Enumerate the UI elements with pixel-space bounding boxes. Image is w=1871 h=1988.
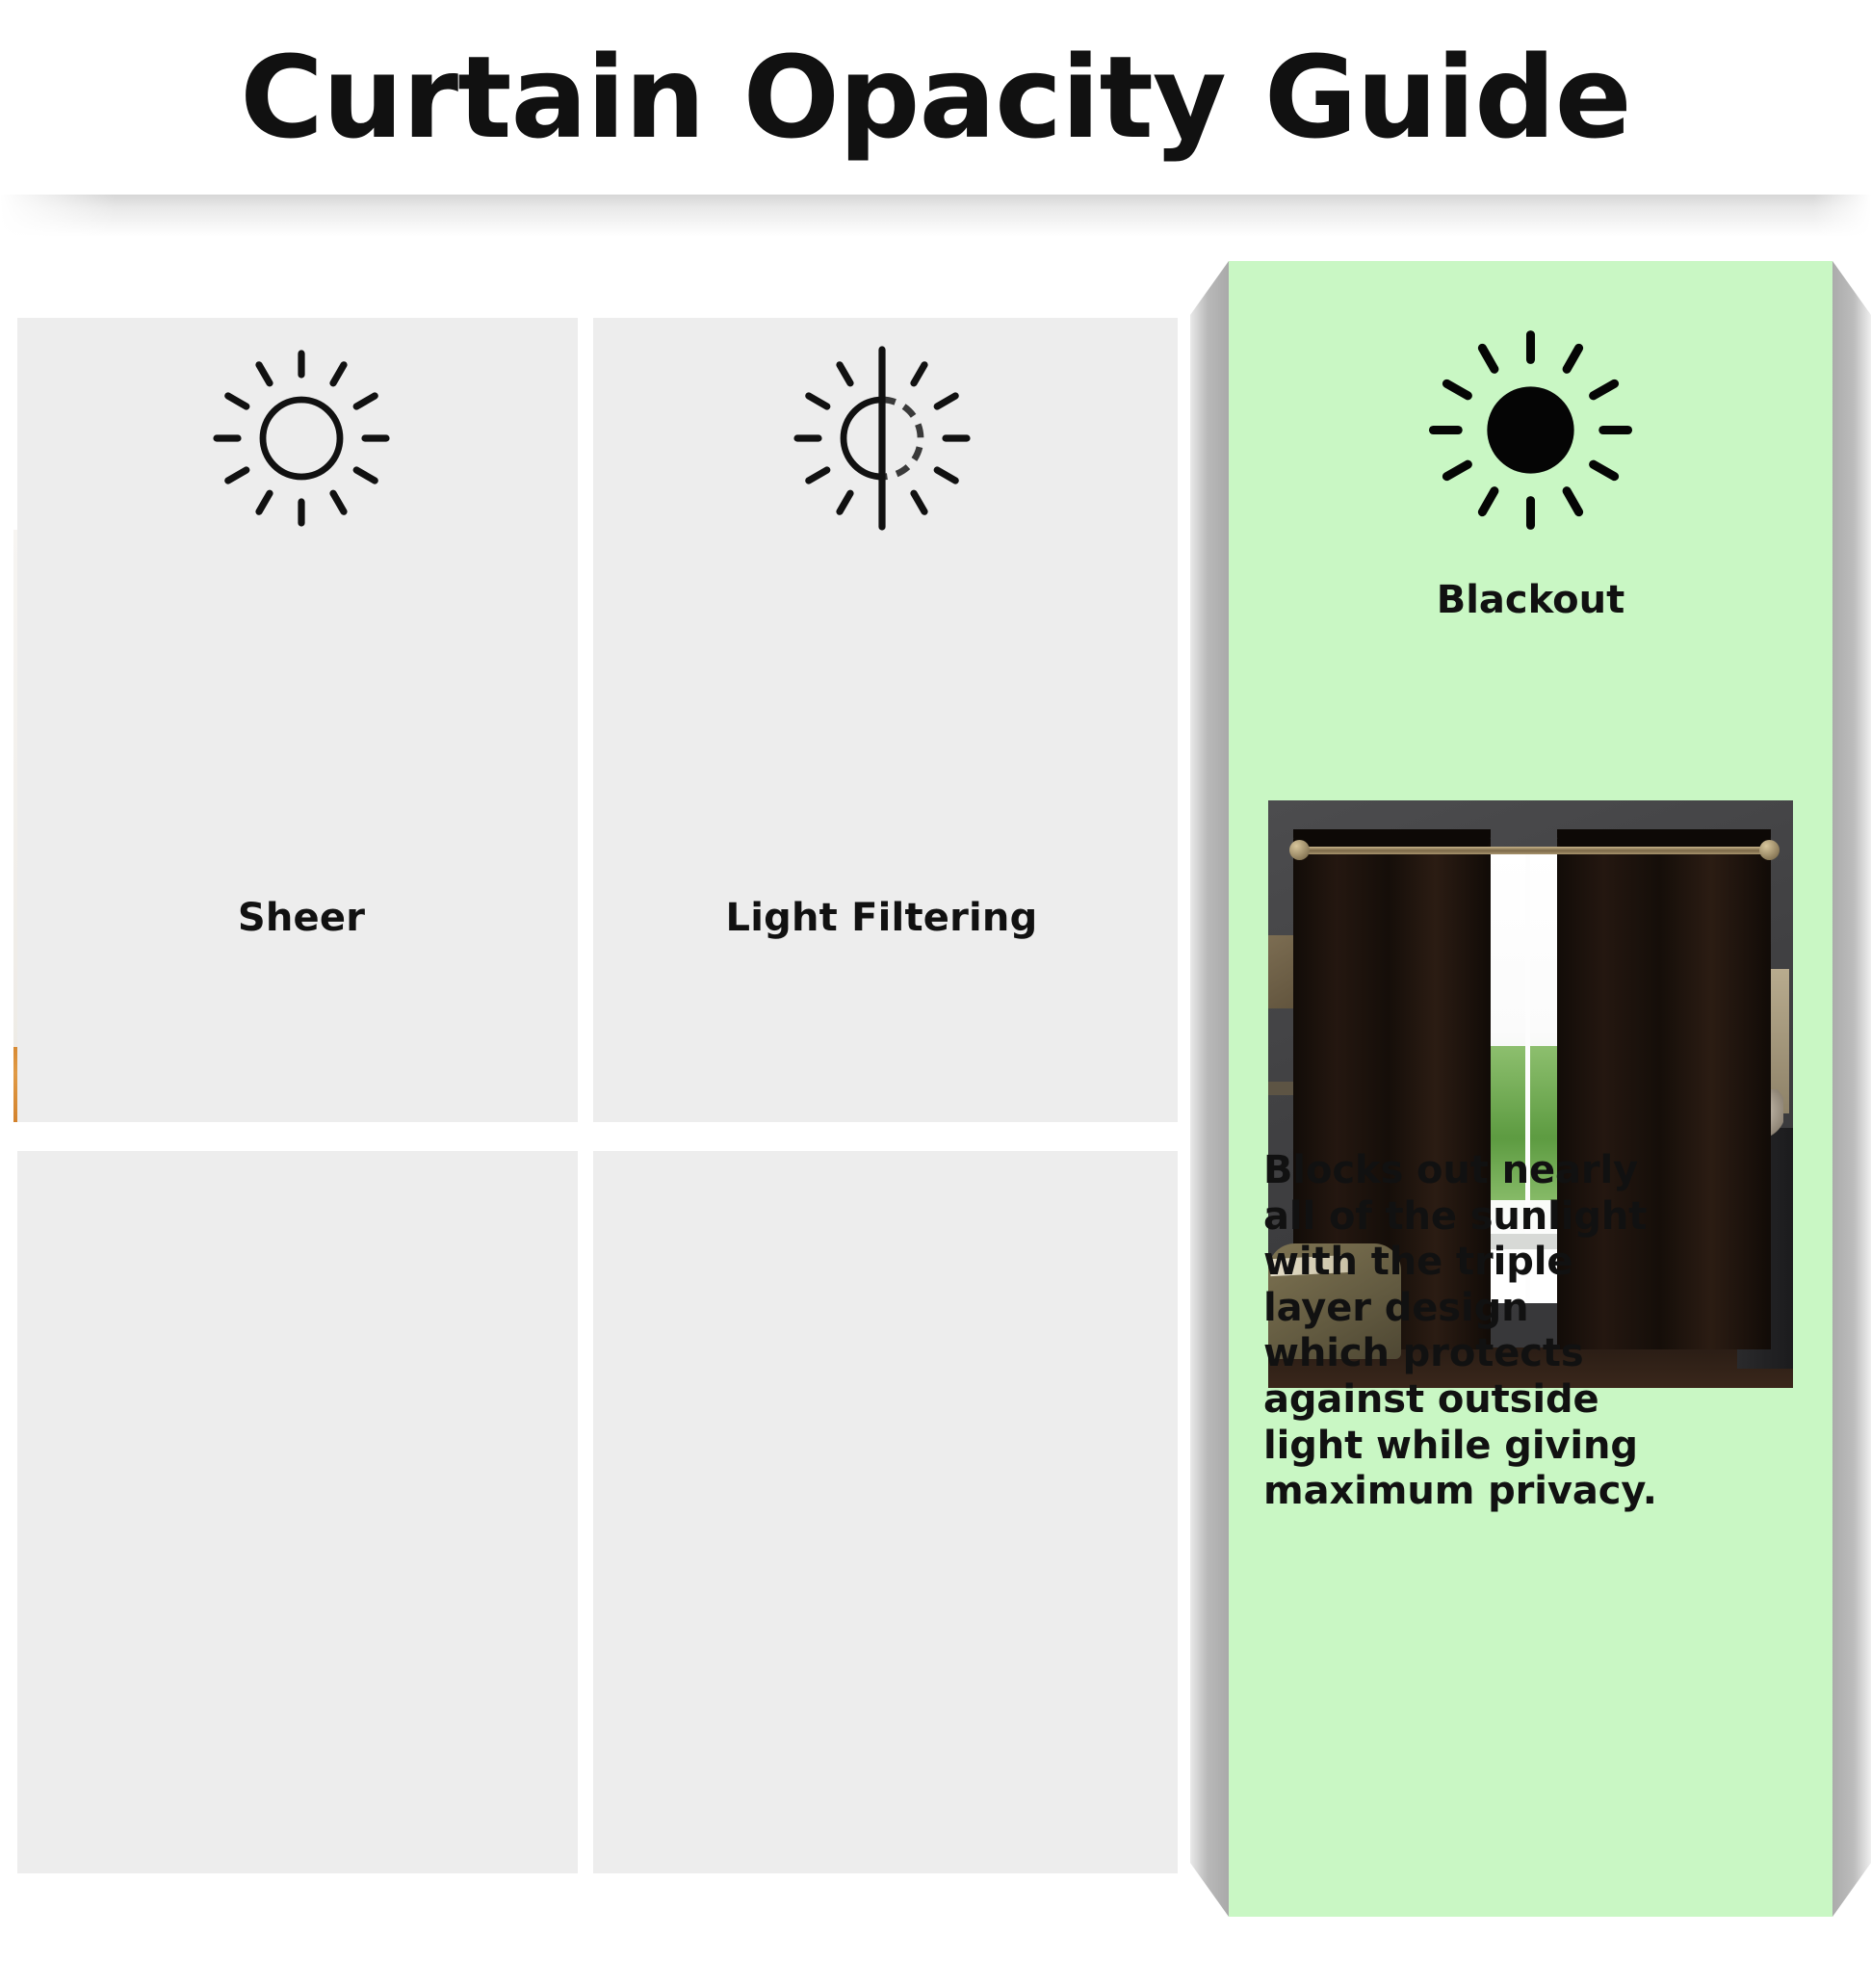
sun-half-icon-wrap (585, 337, 1178, 539)
sun-filled-icon (1427, 327, 1634, 534)
card-bevel-right (1832, 261, 1871, 1917)
sun-outline-icon-wrap (17, 337, 585, 539)
column-blackout-card[interactable]: Blackout Blocks out nearly all of the su… (1190, 261, 1871, 1917)
page-header: Curtain Opacity Guide (0, 0, 1871, 195)
photo-curtain-rod (1297, 847, 1764, 854)
sun-half-icon (786, 342, 978, 535)
column-light-filtering[interactable]: Light Filtering (585, 318, 1178, 1873)
page-title: Curtain Opacity Guide (240, 40, 1630, 154)
column-label-light-filtering: Light Filtering (585, 896, 1178, 940)
sun-filled-icon-wrap (1229, 319, 1832, 540)
photo-rod-finial-left (1289, 840, 1310, 860)
column-sheer[interactable]: Sheer (17, 318, 585, 1873)
column-label-sheer: Sheer (17, 896, 585, 940)
description-blackout: Blocks out nearly all of the sunlight wi… (1263, 1148, 1668, 1515)
photo-rod-finial-right (1759, 840, 1780, 860)
sun-outline-icon (205, 342, 398, 535)
card-bevel-left (1190, 261, 1229, 1917)
column-label-blackout: Blackout (1229, 578, 1832, 622)
